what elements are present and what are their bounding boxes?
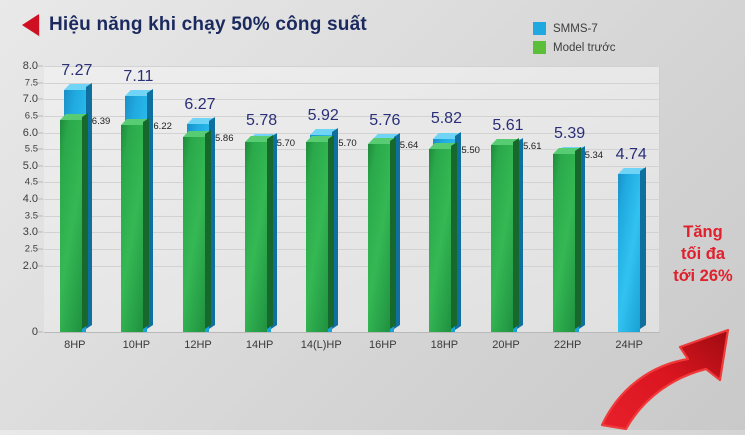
bar-front-face [306, 142, 328, 332]
bar-group[interactable] [429, 66, 461, 332]
y-axis-tick-label: 4.5 [25, 177, 38, 188]
bar-model-truoc[interactable] [245, 142, 267, 332]
x-axis-tick-label: 22HP [554, 339, 582, 351]
x-axis-tick-label: 20HP [492, 339, 520, 351]
x-axis-tick-label: 12HP [184, 339, 212, 351]
chart-legend: SMMS-7 Model trước [533, 22, 616, 60]
bar-value-label-smms7: 5.78 [246, 112, 277, 130]
page-title: Hiệu năng khi chạy 50% công suất [49, 14, 367, 36]
x-axis-tick-label: 18HP [431, 339, 459, 351]
y-axis-tick-label: 3.5 [25, 210, 38, 221]
bar-group[interactable] [306, 66, 338, 332]
x-axis-tick-label: 14HP [246, 339, 274, 351]
plot-area: 7.276.397.116.226.275.865.785.705.925.70… [44, 66, 660, 332]
y-axis-tick-mark [38, 99, 43, 100]
bar-front-face [553, 154, 575, 332]
bar-side-face [451, 142, 457, 329]
bar-model-truoc[interactable] [60, 120, 82, 332]
callout-line-1: Tăng [663, 222, 743, 244]
bar-front-face [183, 137, 205, 332]
bar-side-face [390, 137, 396, 329]
bar-front-face [121, 125, 143, 332]
callout-line-2: tối đa [663, 244, 743, 266]
bar-value-label-model-truoc: 5.70 [277, 138, 296, 149]
bar-side-face [513, 138, 519, 329]
y-axis-tick-label: 2.5 [25, 243, 38, 254]
bar-value-label-smms7: 5.39 [554, 125, 585, 143]
y-axis-tick-label: 7.5 [25, 77, 38, 88]
y-axis-tick-label: 7.0 [23, 93, 38, 105]
bar-front-face [368, 144, 390, 332]
y-axis-tick-label: 2.0 [23, 260, 38, 272]
y-axis-tick-mark [38, 232, 43, 233]
x-axis: 8HP10HP12HP14HP14(L)HP16HP18HP20HP22HP24… [44, 332, 660, 360]
callout-line-3: tới 26% [663, 266, 743, 288]
legend-label-smms7: SMMS-7 [553, 23, 598, 35]
bar-value-label-smms7: 5.61 [492, 117, 523, 135]
bar-value-label-smms7: 7.27 [61, 62, 92, 80]
bar-group[interactable] [614, 66, 646, 332]
bar-value-label-smms7: 7.11 [123, 68, 153, 86]
x-axis-tick-label: 14(L)HP [301, 339, 342, 351]
bar-value-label-model-truoc: 6.22 [153, 121, 172, 132]
bar-value-label-smms7: 5.76 [369, 112, 400, 130]
bar-side-face [267, 135, 273, 329]
y-axis-tick-mark [38, 215, 43, 216]
bar-front-face [60, 120, 82, 332]
y-axis-tick-label: 5.0 [23, 160, 38, 172]
bar-front-face [429, 149, 451, 332]
bar-group[interactable] [553, 66, 585, 332]
bar-model-truoc[interactable] [491, 145, 513, 332]
legend-swatch-smms7 [533, 22, 546, 35]
bar-group[interactable] [245, 66, 277, 332]
bar-side-face [640, 167, 646, 329]
x-axis-tick-label: 24HP [615, 339, 643, 351]
bar-value-label-model-truoc: 5.61 [523, 141, 542, 152]
bar-model-truoc[interactable] [368, 144, 390, 332]
y-axis-tick-mark [38, 82, 43, 83]
bar-value-label-smms7: 4.74 [616, 146, 647, 164]
bar-value-label-smms7: 6.27 [184, 96, 215, 114]
bar-front-face [618, 174, 640, 332]
bar-model-truoc[interactable] [306, 142, 328, 332]
y-axis-tick-label: 6.0 [23, 127, 38, 139]
bar-model-truoc[interactable] [553, 154, 575, 332]
bar-value-label-model-truoc: 5.70 [338, 138, 357, 149]
bar-front-face [245, 142, 267, 332]
bar-value-label-model-truoc: 6.39 [92, 116, 111, 127]
bar-series-container: 7.276.397.116.226.275.865.785.705.925.70… [44, 66, 660, 332]
bar-group[interactable] [491, 66, 523, 332]
y-axis-tick-label: 8.0 [23, 60, 38, 72]
bar-side-face [575, 147, 581, 329]
y-axis-tick-mark [38, 149, 43, 150]
y-axis: 8.07.57.06.56.05.55.04.54.03.53.02.52.00 [0, 66, 44, 332]
triangle-left-icon [22, 14, 39, 36]
y-axis-tick-mark [38, 66, 43, 67]
y-axis-tick-label: 4.0 [23, 193, 38, 205]
y-axis-tick-mark [38, 115, 43, 116]
bar-value-label-model-truoc: 5.34 [585, 150, 604, 161]
y-axis-tick-mark [38, 199, 43, 200]
bar-side-face [205, 130, 211, 329]
bar-group[interactable] [368, 66, 400, 332]
bar-side-face [82, 112, 88, 329]
bar-value-label-smms7: 5.92 [308, 107, 339, 125]
chart-title-row: Hiệu năng khi chạy 50% công suất [22, 14, 367, 36]
x-axis-tick-label: 10HP [123, 339, 151, 351]
bar-side-face [328, 135, 334, 329]
y-axis-tick-mark [38, 248, 43, 249]
y-axis-tick-mark [38, 132, 43, 133]
bar-value-label-model-truoc: 5.64 [400, 140, 419, 151]
chart-canvas: Hiệu năng khi chạy 50% công suất SMMS-7 … [0, 0, 745, 430]
bar-model-truoc[interactable] [429, 149, 451, 332]
bar-model-truoc[interactable] [183, 137, 205, 332]
bar-value-label-model-truoc: 5.86 [215, 133, 234, 144]
y-axis-tick-mark [38, 182, 43, 183]
bar-value-label-model-truoc: 5.50 [461, 145, 480, 156]
bar-value-label-smms7: 5.82 [431, 110, 462, 128]
x-axis-tick-label: 8HP [64, 339, 85, 351]
y-axis-tick-mark [38, 165, 43, 166]
y-axis-tick-mark [38, 332, 43, 333]
bar-group[interactable] [60, 66, 92, 332]
x-axis-tick-label: 16HP [369, 339, 397, 351]
y-axis-tick-label: 6.5 [25, 110, 38, 121]
bar-group[interactable] [121, 66, 153, 332]
legend-item-smms7: SMMS-7 [533, 22, 616, 35]
bar-front-face [491, 145, 513, 332]
callout-text: Tăng tối đa tới 26% [663, 222, 743, 287]
y-axis-tick-label: 3.0 [23, 226, 38, 238]
legend-label-model-truoc: Model trước [553, 42, 616, 54]
bar-model-truoc[interactable] [121, 125, 143, 332]
y-axis-tick-label: 5.5 [25, 144, 38, 155]
bar-side-face [143, 118, 149, 329]
legend-item-model-truoc: Model trước [533, 41, 616, 54]
y-axis-tick-mark [38, 265, 43, 266]
legend-swatch-model-truoc [533, 41, 546, 54]
bar-smms7[interactable] [618, 174, 640, 332]
